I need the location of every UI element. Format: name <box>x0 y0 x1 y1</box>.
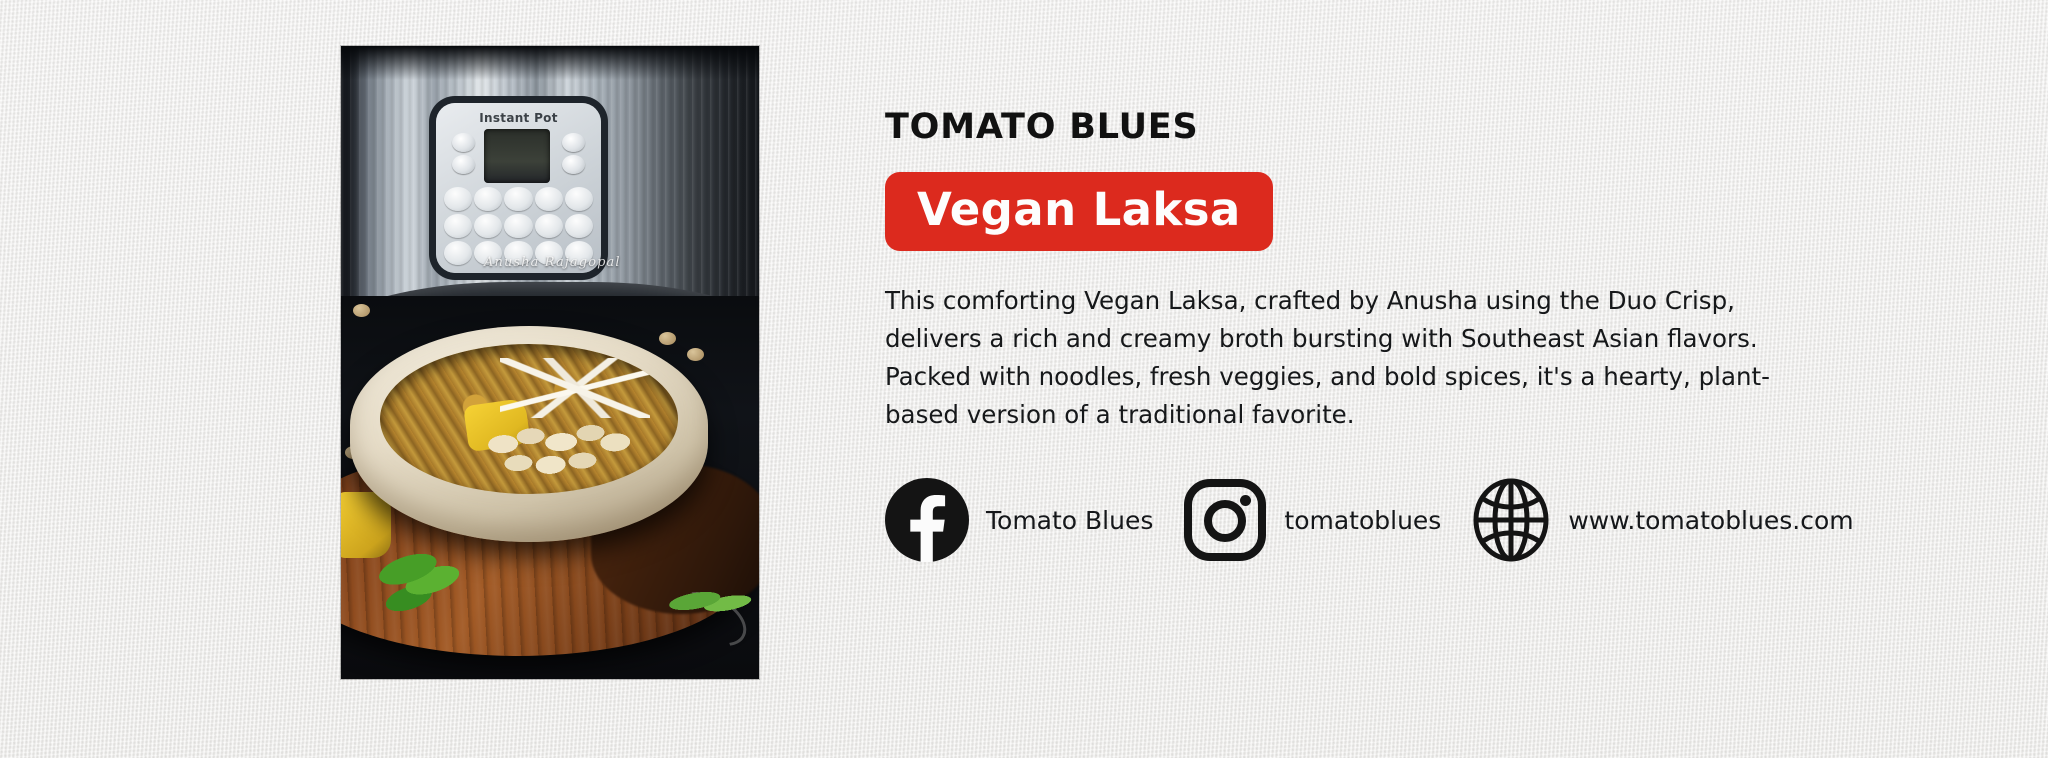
recipe-description: This comforting Vegan Laksa, crafted by … <box>885 282 1835 434</box>
photo-watermark: Anusha Rajagopal <box>484 255 621 270</box>
content-column: TOMATO BLUES Vegan Laksa This comforting… <box>885 110 1945 562</box>
minus-knob-left <box>452 155 475 174</box>
pot-button <box>535 214 563 238</box>
pot-button <box>535 187 563 211</box>
pot-button <box>504 187 532 211</box>
table-scene <box>341 296 759 679</box>
pot-button <box>474 187 502 211</box>
peanut <box>687 348 704 361</box>
plus-knob-left <box>452 133 475 152</box>
instant-pot-button-grid <box>444 187 593 265</box>
photo-top-shadow <box>341 46 759 80</box>
instant-pot-display <box>484 129 550 183</box>
instagram-handle: tomatoblues <box>1284 506 1441 535</box>
minus-knob-right <box>562 155 585 174</box>
instant-pot-brand-label: Instant Pot <box>436 111 601 125</box>
white-beans <box>486 421 640 489</box>
laksa-bowl <box>350 326 708 542</box>
pot-button <box>444 241 472 265</box>
instant-pot-control-panel: Instant Pot <box>436 103 601 273</box>
peanut <box>353 304 370 317</box>
bean-sprouts <box>500 358 650 418</box>
plus-knob-right <box>562 133 585 152</box>
pot-button <box>474 214 502 238</box>
recipe-card-canvas: Instant Pot <box>0 0 2048 758</box>
instagram-icon <box>1183 478 1267 562</box>
laksa-broth <box>380 344 678 494</box>
globe-icon <box>1471 478 1551 562</box>
pot-button <box>565 187 593 211</box>
facebook-handle: Tomato Blues <box>986 506 1153 535</box>
social-links-row: Tomato Blues tomatoblues <box>885 478 1945 562</box>
recipe-name-badge: Vegan Laksa <box>885 172 1273 251</box>
page-title: TOMATO BLUES <box>885 110 1945 145</box>
social-link-instagram[interactable]: tomatoblues <box>1183 478 1441 562</box>
social-link-website[interactable]: www.tomatoblues.com <box>1471 478 1853 562</box>
pot-button <box>504 214 532 238</box>
facebook-icon <box>885 478 969 562</box>
pot-button <box>444 214 472 238</box>
recipe-photo: Instant Pot <box>341 46 759 679</box>
pot-button <box>565 214 593 238</box>
social-link-facebook[interactable]: Tomato Blues <box>885 478 1153 562</box>
pot-button <box>444 187 472 211</box>
website-url: www.tomatoblues.com <box>1568 506 1853 535</box>
peanut <box>659 332 676 345</box>
lemon-wedge-side <box>341 492 391 558</box>
